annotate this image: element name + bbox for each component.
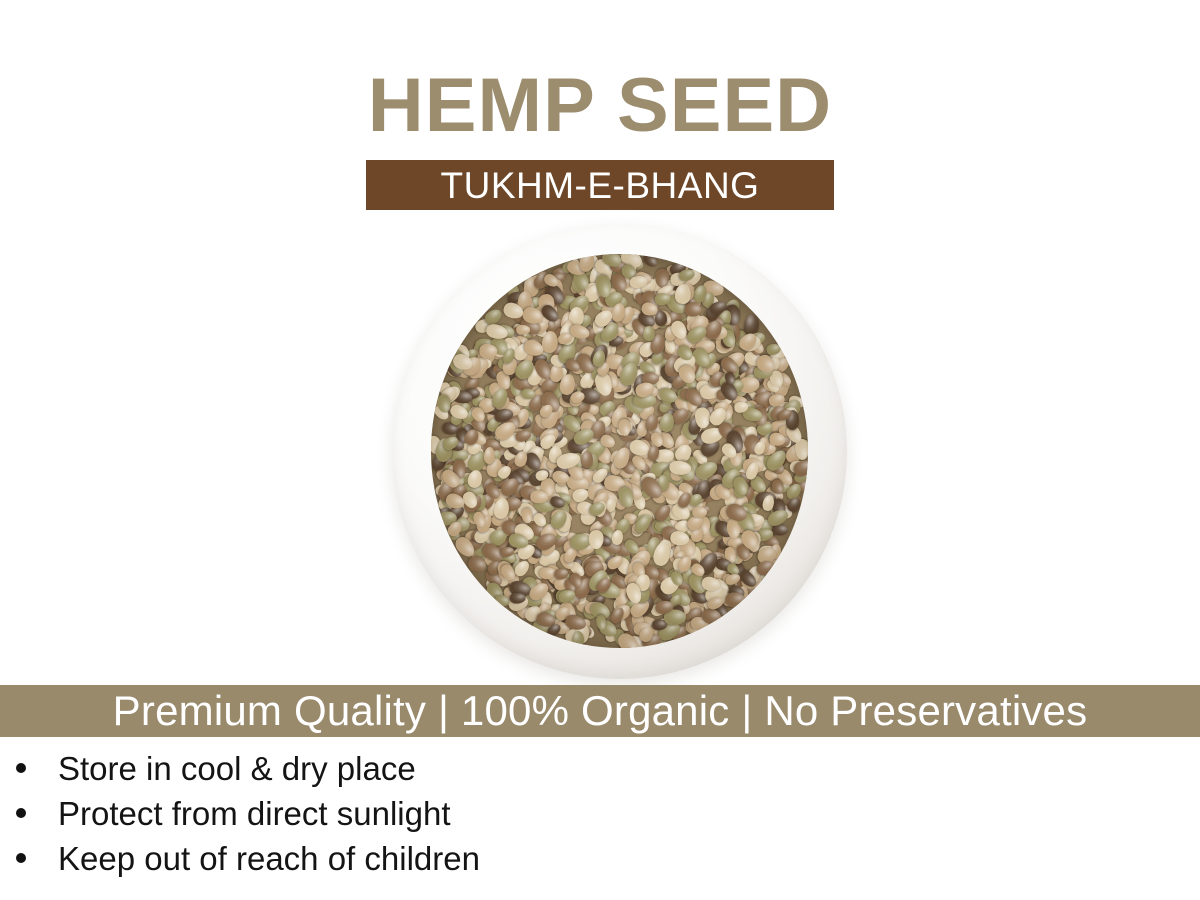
quality-banner-text: Premium Quality | 100% Organic | No Pres… <box>113 690 1088 732</box>
storage-instruction-text: Protect from direct sunlight <box>58 797 451 830</box>
bullet-dot-icon <box>16 763 26 773</box>
page-title: HEMP SEED <box>0 68 1200 144</box>
hemp-seed <box>581 451 594 469</box>
hemp-seed <box>589 530 604 549</box>
list-item: Keep out of reach of children <box>0 838 1200 878</box>
hemp-seeds <box>431 254 808 648</box>
list-item: Protect from direct sunlight <box>0 793 1200 833</box>
storage-instructions-list: Store in cool & dry placeProtect from di… <box>0 748 1200 883</box>
list-item: Store in cool & dry place <box>0 748 1200 788</box>
bullet-dot-icon <box>16 808 26 818</box>
hemp-seed <box>516 324 530 335</box>
hemp-seed <box>726 593 746 608</box>
subtitle-band: TUKHM-E-BHANG <box>366 160 834 210</box>
seed-layer <box>431 254 808 648</box>
quality-banner: Premium Quality | 100% Organic | No Pres… <box>0 685 1200 737</box>
subtitle-text: TUKHM-E-BHANG <box>441 167 760 204</box>
product-photo <box>0 222 1200 684</box>
hemp-seed <box>641 254 659 269</box>
hemp-seed <box>572 631 584 647</box>
title-block: HEMP SEED TUKHM-E-BHANG <box>0 68 1200 210</box>
bullet-dot-icon <box>16 853 26 863</box>
product-label-card: HEMP SEED TUKHM-E-BHANG Premium Quality … <box>0 0 1200 900</box>
storage-instruction-text: Store in cool & dry place <box>58 752 416 785</box>
storage-instruction-text: Keep out of reach of children <box>58 842 480 875</box>
hemp-seed <box>595 614 607 630</box>
white-ceramic-bowl <box>392 224 847 679</box>
